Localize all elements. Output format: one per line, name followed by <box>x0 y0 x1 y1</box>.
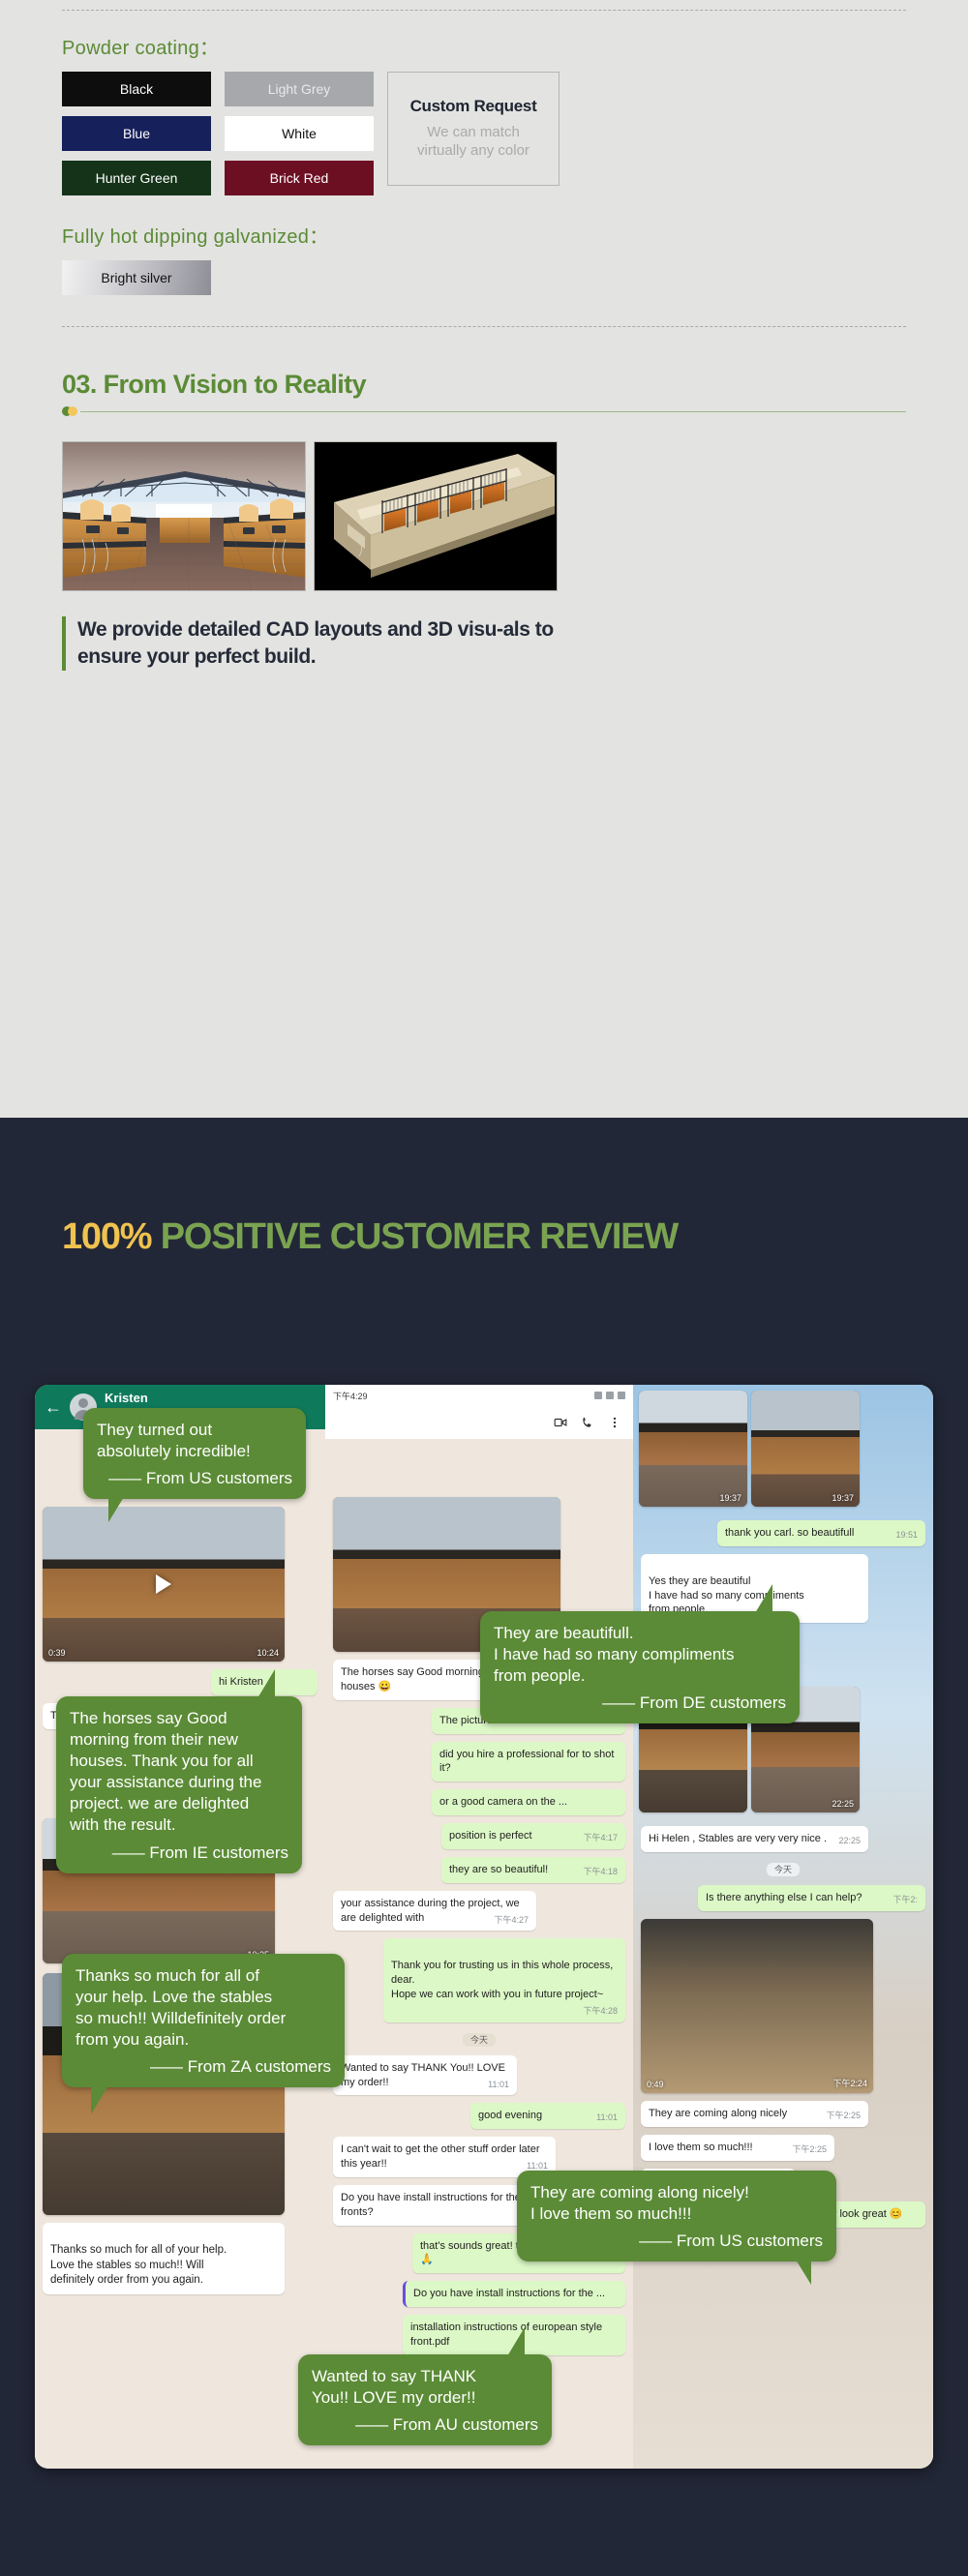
message-text: thank you carl. so beautifull <box>725 1527 854 1539</box>
video-thumbnail[interactable]: 0:39 10:24 <box>43 1507 285 1662</box>
chat-message-in: Hi Helen , Stables are very very nice . … <box>641 1826 868 1852</box>
vision-image-row <box>62 441 906 591</box>
chat-message-out: or a good camera on the ... <box>432 1789 625 1815</box>
testimonial-bubble-au: Wanted to say THANK You!! LOVE my order!… <box>298 2354 552 2445</box>
message-text: I can't wait to get the other stuff orde… <box>341 2143 540 2170</box>
customer-review-section: 100% POSITIVE CUSTOMER REVIEW ← Kristen … <box>0 1118 968 2576</box>
vision-to-reality-section: 03. From Vision to Reality <box>0 327 968 671</box>
message-time: 下午2: <box>892 1894 918 1905</box>
message-time: 下午2:25 <box>792 2143 827 2155</box>
chat-toolbar <box>325 1406 633 1439</box>
chat-message-out: thank you carl. so beautifull 19:51 <box>717 1520 925 1546</box>
bubble-tail <box>796 2260 811 2285</box>
cad-caption: We provide detailed CAD layouts and 3D v… <box>62 616 906 671</box>
tools-photo <box>641 1919 873 2093</box>
chat-body-middle: 下午4:29 <box>325 1385 633 2469</box>
video-timestamp: 10:24 <box>257 1648 279 1658</box>
message-text: or a good camera on the ... <box>439 1796 567 1808</box>
message-text: I love them so much!!! <box>649 2142 753 2153</box>
chat-panel-middle: 下午4:29 <box>325 1385 633 2469</box>
chat-message-in: Wanted to say THANK You!! LOVE my order!… <box>333 2055 517 2096</box>
day-separator: 今天 <box>463 2033 496 2047</box>
play-icon[interactable] <box>156 1574 171 1594</box>
message-text: Is there anything else I can help? <box>706 1892 862 1903</box>
statusbar-icons <box>594 1392 625 1399</box>
statusbar-time: 下午4:29 <box>333 1390 368 1402</box>
bubble-tail <box>91 2085 108 2114</box>
stable-photo <box>639 1391 747 1507</box>
bubble-text: They turned out absolutely incredible! <box>97 1421 251 1460</box>
chat-screenshot-collage: ← Kristen 在线 0:39 10:24 hi Kristen <box>35 1385 933 2469</box>
swatch-label: Blue <box>123 127 150 140</box>
video-thumbnail-tools[interactable]: 0:49 下午2:24 <box>641 1919 873 2093</box>
swatch-blue[interactable]: Blue <box>62 116 211 151</box>
swatch-label: Light Grey <box>268 82 331 96</box>
reviews-title-rest: POSITIVE CUSTOMER REVIEW <box>151 1216 678 1257</box>
bubble-attribution: —— From AU customers <box>312 2414 538 2436</box>
bubble-tail <box>507 2327 525 2356</box>
chat-message-out: Is there anything else I can help? 下午2: <box>698 1885 925 1911</box>
chat-message-in: They are coming along nicely 下午2:25 <box>641 2101 868 2127</box>
message-text: position is perfect <box>449 1830 532 1842</box>
divider-bottom <box>62 326 906 327</box>
custom-request-title: Custom Request <box>410 97 537 116</box>
message-text: Thank you for trusting us in this whole … <box>391 1960 613 2000</box>
bubble-text: They are beautifull. I have had so many … <box>494 1624 735 1685</box>
message-text: They are coming along nicely <box>649 2108 787 2119</box>
chat-message-in: I love them so much!!! 下午2:25 <box>641 2135 834 2161</box>
chat-message-out: good evening 11:01 <box>470 2103 625 2129</box>
phone-statusbar: 下午4:29 <box>325 1385 633 1406</box>
swatch-label: Hunter Green <box>96 171 178 185</box>
message-time: 下午4:18 <box>583 1866 618 1877</box>
testimonial-bubble-de: They are beautifull. I have had so many … <box>480 1611 800 1723</box>
message-text: Do you have install instructions for the… <box>341 2192 521 2218</box>
message-text: Yes they are beautiful I have had so man… <box>649 1575 804 1616</box>
swatch-bright-silver[interactable]: Bright silver <box>62 260 211 295</box>
powder-coating-swatches: Black Light Grey Blue White Hunter Green… <box>62 72 906 195</box>
swatch-label: Bright silver <box>101 270 171 285</box>
testimonial-bubble-ie: The horses say Good morning from their n… <box>56 1696 302 1873</box>
message-time: 下午4:27 <box>494 1914 529 1926</box>
message-text: hi Kristen <box>219 1676 263 1688</box>
3d-visual-stable-cutaway-image <box>314 441 558 591</box>
bubble-attribution: —— From US customers <box>97 1468 292 1489</box>
message-time: 11:01 <box>488 2079 509 2090</box>
custom-request-subtitle: We can match virtually any color <box>417 124 529 161</box>
video-duration: 0:49 <box>647 2080 664 2089</box>
swatch-brick-red[interactable]: Brick Red <box>225 161 374 195</box>
bubble-text: They are coming along nicely! I love the… <box>530 2183 749 2223</box>
photo-timestamp: 22:25 <box>832 1799 854 1809</box>
chat-panel-left: ← Kristen 在线 0:39 10:24 hi Kristen <box>35 1385 325 2469</box>
swatch-label: White <box>282 127 317 140</box>
back-arrow-icon[interactable]: ← <box>45 1398 62 1416</box>
custom-request-box[interactable]: Custom Request We can match virtually an… <box>387 72 560 186</box>
testimonial-bubble-us-top: They turned out absolutely incredible! —… <box>83 1408 306 1499</box>
message-time: 19:51 <box>895 1529 918 1541</box>
battery-icon <box>618 1392 625 1399</box>
message-text: Thanks so much for all of your help. Lov… <box>50 2244 227 2286</box>
stable-photo <box>751 1391 860 1507</box>
color-options-section: Powder coating： Black Light Grey Blue Wh… <box>0 0 968 327</box>
reviews-title-percent: 100% <box>62 1216 151 1257</box>
photo-thumbnail-a[interactable]: 19:37 <box>639 1391 747 1507</box>
bubble-attribution: —— From ZA customers <box>76 2056 331 2078</box>
bubble-attribution: —— From US customers <box>530 2231 823 2252</box>
chat-panel-right: 19:37 19:37 thank you carl. so beautiful… <box>633 1385 933 2469</box>
message-text: they are so beautiful! <box>449 1864 548 1875</box>
powder-coating-title: Powder coating： <box>62 32 906 60</box>
bubble-text: Wanted to say THANK You!! LOVE my order!… <box>312 2367 476 2407</box>
chat-message-bottom: Thanks so much for all of your help. Lov… <box>43 2223 285 2294</box>
galvanized-title: Fully hot dipping galvanized： <box>62 221 906 249</box>
testimonial-bubble-us-bottom: They are coming along nicely! I love the… <box>517 2171 836 2261</box>
chat-message-quote: Do you have install instructions for the… <box>403 2281 625 2307</box>
chat-message-out: position is perfect 下午4:17 <box>441 1823 625 1849</box>
message-time: 下午2:25 <box>826 2110 861 2121</box>
chat-body-left: 0:39 10:24 hi Kristen They turned out ab… <box>35 1429 325 2469</box>
testimonial-bubble-za: Thanks so much for all of your help. Lov… <box>62 1954 345 2087</box>
message-text: your assistance during the project, we a… <box>341 1898 520 1924</box>
chat-message-out: did you hire a professional for to shot … <box>432 1742 625 1782</box>
bubble-text: Thanks so much for all of your help. Lov… <box>76 1966 286 2049</box>
bubble-attribution: —— From DE customers <box>494 1692 786 1714</box>
divider-top <box>62 10 906 11</box>
rule-line <box>80 411 906 412</box>
swatch-light-grey[interactable]: Light Grey <box>225 72 374 106</box>
chat-message-out: they are so beautiful! 下午4:18 <box>441 1857 625 1883</box>
message-time: 下午4:28 <box>583 2005 618 2017</box>
section-rule <box>62 406 906 416</box>
message-text: did you hire a professional for to shot … <box>439 1749 614 1775</box>
day-separator: 今天 <box>767 1863 800 1876</box>
photo-timestamp: 19:37 <box>832 1493 854 1503</box>
swatch-hunter-green[interactable]: Hunter Green <box>62 161 211 195</box>
video-call-icon[interactable] <box>554 1416 567 1429</box>
message-time: 下午4:17 <box>583 1832 618 1843</box>
contact-name: Kristen <box>105 1391 148 1405</box>
phone-call-icon[interactable] <box>581 1416 594 1429</box>
message-text: Hi Helen , Stables are very very nice . <box>649 1833 827 1844</box>
message-time: 22:25 <box>838 1835 861 1846</box>
cad-render-barn-interior-image <box>62 441 306 591</box>
message-text: good evening <box>478 2110 542 2121</box>
chat-message-out: Thank you for trusting us in this whole … <box>383 1938 625 2022</box>
caption-text: We provide detailed CAD layouts and 3D v… <box>77 616 561 671</box>
swatch-white[interactable]: White <box>225 116 374 151</box>
bubble-tail <box>108 1497 124 1522</box>
wifi-icon <box>606 1392 614 1399</box>
more-options-icon[interactable] <box>608 1416 621 1429</box>
reviews-title: 100% POSITIVE CUSTOMER REVIEW <box>62 1216 968 1258</box>
signal-icon <box>594 1392 602 1399</box>
message-time: 11:01 <box>596 2112 618 2123</box>
chat-message-in: your assistance during the project, we a… <box>333 1891 536 1932</box>
swatch-label: Brick Red <box>270 171 329 185</box>
video-duration: 0:39 <box>48 1648 66 1658</box>
message-text: Do you have install instructions for the… <box>413 2288 605 2299</box>
photo-timestamp: 19:37 <box>719 1493 741 1503</box>
photo-thumbnail-b[interactable]: 19:37 <box>751 1391 860 1507</box>
swatch-black[interactable]: Black <box>62 72 211 106</box>
dot-yellow-icon <box>68 406 77 416</box>
message-text: Wanted to say THANK You!! LOVE my order!… <box>341 2062 505 2088</box>
galvanized-swatches: Bright silver <box>62 260 906 295</box>
video-timestamp: 下午2:24 <box>832 2077 867 2089</box>
bubble-attribution: —— From IE customers <box>70 1842 288 1864</box>
swatch-label: Black <box>120 82 153 96</box>
bubble-tail <box>755 1584 772 1613</box>
bubble-text: The horses say Good morning from their n… <box>70 1709 261 1834</box>
bubble-tail <box>257 1669 275 1698</box>
section-heading-03: 03. From Vision to Reality <box>62 370 906 400</box>
chat-body-right: 19:37 19:37 thank you carl. so beautiful… <box>633 1385 933 2469</box>
caption-accent-bar <box>62 616 66 671</box>
